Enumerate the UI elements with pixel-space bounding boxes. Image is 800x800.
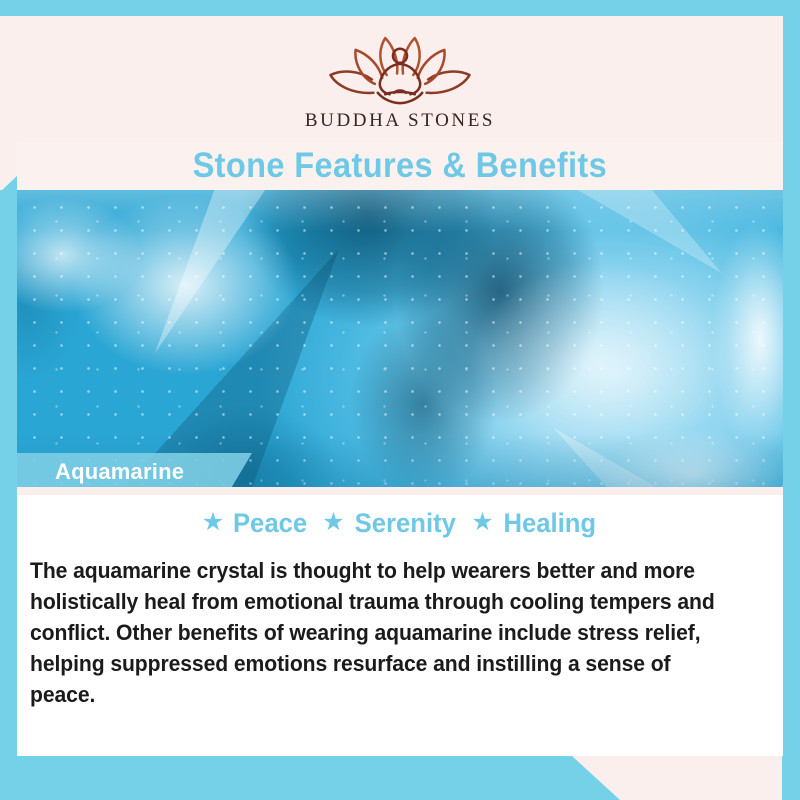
content-top-divider <box>17 487 783 495</box>
content-panel: ★ Peace ★ Serenity ★ Healing The aquamar… <box>17 487 783 756</box>
star-icon: ★ <box>322 510 344 535</box>
page-title: Stone Features & Benefits <box>193 146 607 186</box>
keyword-item-serenity: ★ Serenity <box>322 508 458 539</box>
stone-name-banner: Aquamarine <box>17 453 252 490</box>
brand-header: BUDDHA STONES <box>17 16 783 146</box>
frame-bottom-strip <box>0 756 620 800</box>
star-icon: ★ <box>202 510 224 535</box>
photo-vignette-layer <box>17 190 783 487</box>
title-band: Stone Features & Benefits <box>17 142 783 190</box>
frame-top-strip <box>0 0 800 16</box>
keyword-label: Serenity <box>354 508 455 539</box>
stone-name-label: Aquamarine <box>55 459 184 485</box>
crystal-photo <box>17 190 783 487</box>
frame-right-strip <box>782 0 800 800</box>
keyword-item-healing: ★ Healing <box>471 508 598 539</box>
keyword-label: Healing <box>503 508 596 539</box>
frame-left-strip <box>0 190 17 800</box>
keyword-item-peace: ★ Peace <box>202 508 310 539</box>
stone-features-poster: BUDDHA STONES Stone Features & Benefits … <box>0 0 800 800</box>
brand-name: BUDDHA STONES <box>305 110 495 132</box>
description-text: The aquamarine crystal is thought to hel… <box>30 555 726 710</box>
lotus-meditation-figure-icon <box>326 29 474 107</box>
keyword-row: ★ Peace ★ Serenity ★ Healing <box>17 508 783 539</box>
keyword-label: Peace <box>233 508 307 539</box>
brand-logo: BUDDHA STONES <box>305 29 495 132</box>
star-icon: ★ <box>471 510 493 535</box>
